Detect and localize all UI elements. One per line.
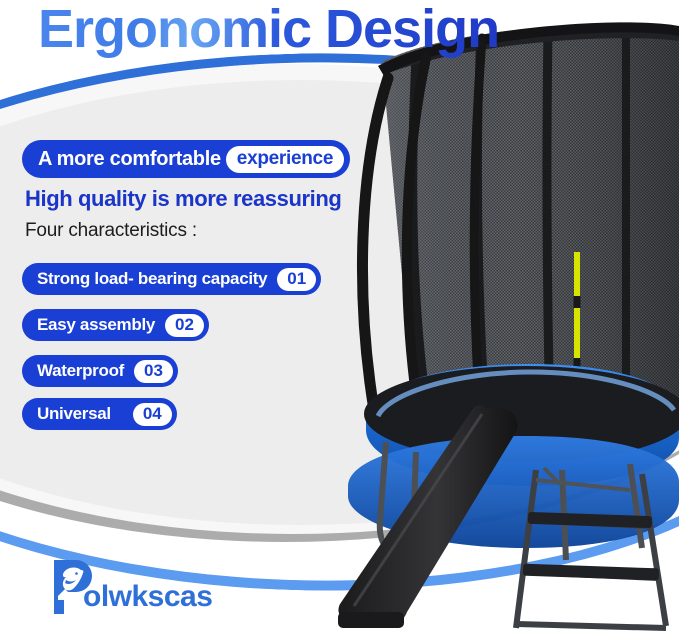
feature-label: Universal — [37, 404, 111, 424]
feature-number: 04 — [133, 403, 172, 426]
brand-logo: olwkscas — [50, 558, 212, 616]
feature-number: 02 — [165, 314, 204, 337]
feature-pill-4: Universal 04 — [22, 398, 177, 430]
feature-pill-1: Strong load- bearing capacity 01 — [22, 263, 321, 295]
subheading-text: High quality is more reassuring — [25, 186, 341, 212]
headline-lead-text: A more comfortable — [38, 148, 221, 171]
product-marketing-banner: Ergonomic Design A more comfortable expe… — [0, 0, 679, 644]
headline-chip: experience — [226, 146, 344, 173]
feature-label: Easy assembly — [37, 315, 155, 335]
feature-pill-3: Waterproof 03 — [22, 355, 178, 387]
product-image-trampoline — [330, 0, 679, 644]
feature-label: Strong load- bearing capacity — [37, 269, 267, 289]
page-title: Ergonomic Design — [38, 0, 499, 60]
headline-pill: A more comfortable experience — [22, 140, 350, 178]
brand-name: olwkscas — [83, 580, 212, 614]
feature-pill-2: Easy assembly 02 — [22, 309, 209, 341]
characteristics-label: Four characteristics : — [25, 220, 197, 242]
feature-number: 03 — [134, 360, 173, 383]
feature-number: 01 — [277, 268, 316, 291]
feature-label: Waterproof — [37, 361, 124, 381]
